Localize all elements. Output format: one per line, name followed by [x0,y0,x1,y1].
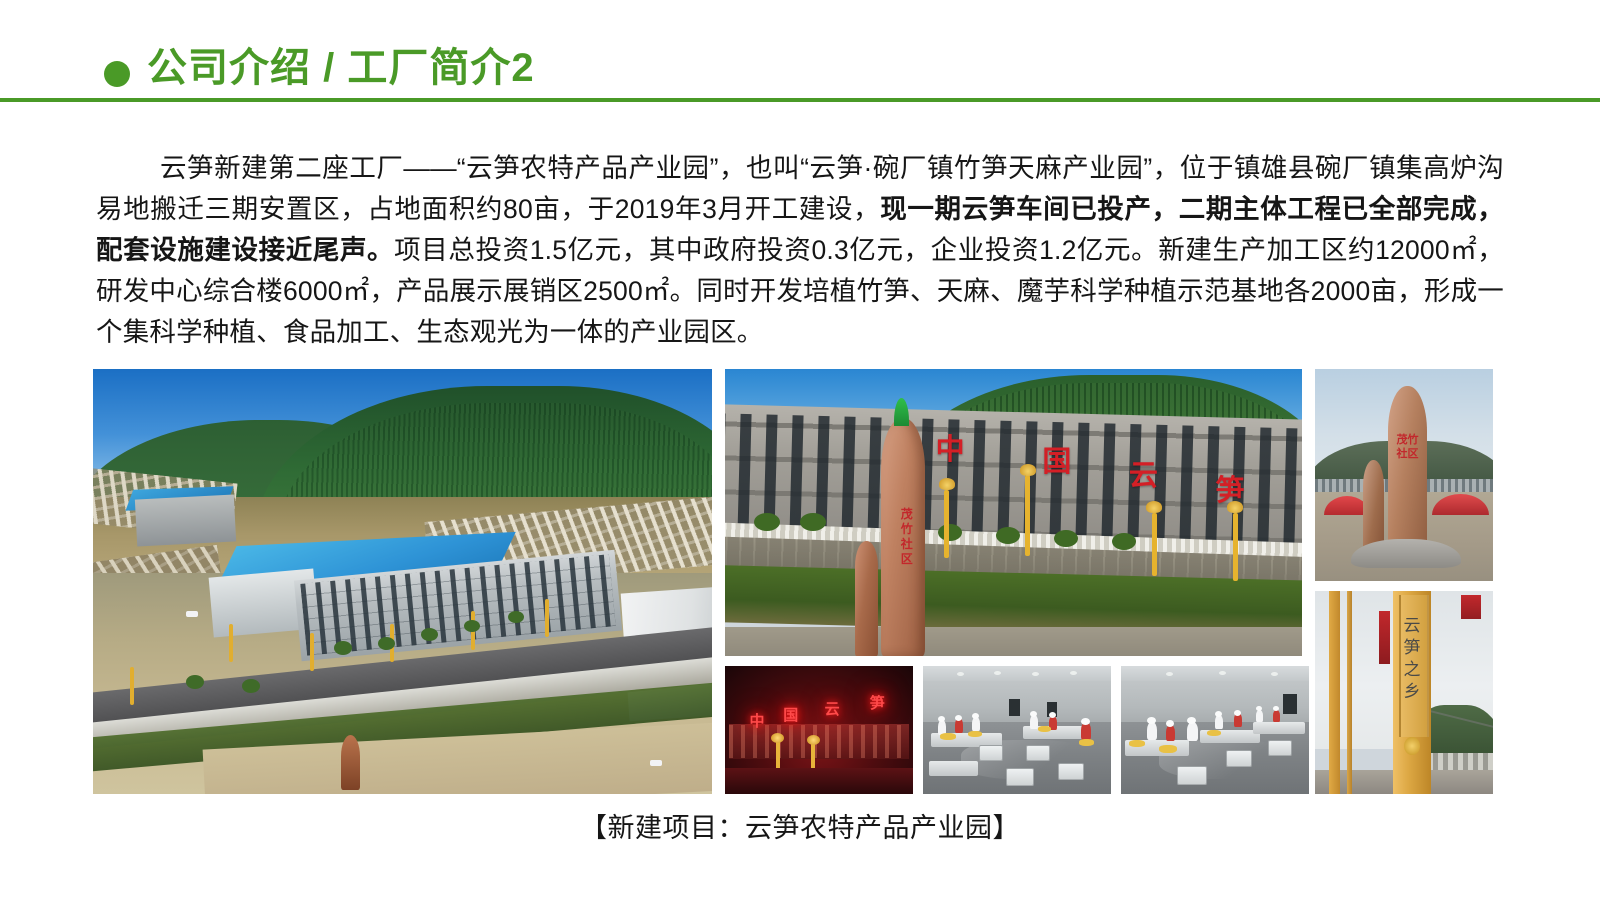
parked-car [186,611,198,617]
storage-crate [979,745,1003,761]
bamboo-shoot-sculpture-image: 茂竹社区 [1315,369,1493,581]
worker-cap [955,715,962,721]
trimmed-bush [1112,533,1136,550]
neon-char-3: 云 [825,698,840,719]
factory-facade-daytime-image: 中 国 云 笋 茂竹社区 [725,369,1302,656]
storage-crate [1026,745,1050,761]
street-lamp [130,667,134,705]
storage-crate [1058,763,1084,780]
decorative-lamp-post [944,490,949,559]
processing-table [1253,722,1306,734]
worker-cap [1234,710,1241,716]
pillar-calligraphy: 云笋之乡 [1400,615,1423,703]
workshop-processing-line-b-image [1121,666,1309,794]
worker [1273,710,1280,722]
small-bamboo-sculpture [855,541,878,656]
bamboo-shoot-pile [1159,745,1177,753]
trimmed-bush [800,513,826,531]
main-bamboo-sculpture [1388,386,1427,560]
page-title: 公司介绍 / 工厂简介2 [147,42,535,94]
red-banner [1379,611,1390,664]
trimmed-bush [1054,530,1078,547]
storage-crate [1177,766,1207,785]
workshop-doorway [1009,699,1020,716]
worker-cap [1030,711,1037,717]
sculpture-inscription: 茂竹社区 [1393,433,1421,461]
decorative-lamp-post [1152,513,1157,576]
bamboo-shoot-pile [1079,739,1094,746]
decorative-lamp-post [1025,475,1030,555]
workshop-processing-line-a-image [923,666,1111,794]
aerial-factory-overview-image [93,369,712,794]
bullet-dot-icon [104,61,130,87]
decorative-lamp-post [1233,513,1238,582]
street-lamp [545,599,549,637]
night-foreground [725,768,913,794]
worker [1081,722,1091,740]
photo-caption: 【新建项目：云笋农特产品产业园】 [0,806,1600,845]
thin-yellow-post [1347,591,1352,794]
neon-char-1: 中 [749,710,764,731]
worker [1147,722,1157,740]
worker [1166,725,1175,741]
neon-char-2: 国 [783,704,798,725]
worker-cap [1273,706,1279,711]
storage-crate [1006,768,1034,786]
bamboo-shoot-pile [1038,726,1051,732]
worker [1256,710,1263,722]
ornamental-tree [378,637,395,650]
yellow-pillar-signpost-image: 云笋之乡 [1315,591,1493,794]
bamboo-shoot-pile [968,731,982,737]
lamp-head [771,733,784,743]
worker-cap [1049,712,1056,718]
worker-cap [1187,717,1196,724]
worker-cap [1256,706,1262,711]
lamp-head [1227,501,1243,513]
slide-header: 公司介绍 / 工厂简介2 [0,0,1600,104]
storage-crate [1226,750,1252,767]
worker [972,717,980,731]
bamboo-shoot-pile [940,733,956,740]
neon-char-4: 笋 [870,692,885,713]
facade-sign-char-1: 中 [936,426,965,468]
trimmed-bush [754,513,780,531]
worker-cap [1166,720,1174,727]
worker-cap [938,716,945,722]
ornamental-tree [242,679,260,693]
street-lamp [229,624,233,662]
facade-sign-char-3: 云 [1129,452,1158,494]
street-lamp [310,633,314,671]
workshop-doorway [1283,694,1297,714]
ceiling-light [1070,671,1077,675]
bamboo-shoot-pile [1207,730,1221,736]
worker [1187,722,1198,741]
workshop-ceiling [1121,666,1309,681]
trimmed-bush [996,527,1020,544]
ornamental-tree [508,611,524,623]
factory-night-neon-image: 中 国 云 笋 [725,666,913,794]
background-building [135,494,236,546]
sculpture-inscription: 茂竹社区 [895,507,918,567]
left-yellow-post [1329,591,1340,794]
lamp-head [1020,464,1036,476]
processing-table [929,761,978,776]
parked-car [650,760,662,766]
bamboo-shoot-pile [1129,740,1145,747]
header-divider [0,98,1600,102]
plaza-bamboo-sculpture [341,735,361,790]
ornamental-tree [186,675,204,689]
lamp-head [939,478,955,490]
workshop-ceiling [923,666,1111,681]
worker [955,718,963,733]
ornamental-tree [464,620,480,632]
lamp-head [1146,501,1162,513]
ceiling-light [1219,671,1226,675]
worker-cap [1215,711,1222,717]
body-paragraph: 云笋新建第二座工厂——“云笋农特产品产业园”，也叫“云笋·碗厂镇竹笋天麻产业园”… [96,148,1504,353]
photo-grid: 中 国 云 笋 茂竹社区 茂竹社区 [93,369,1493,794]
foreground-plaza [725,627,1302,656]
red-plaque [1461,595,1481,619]
storage-crate [1268,740,1292,756]
facade-sign-char-2: 国 [1042,438,1071,480]
